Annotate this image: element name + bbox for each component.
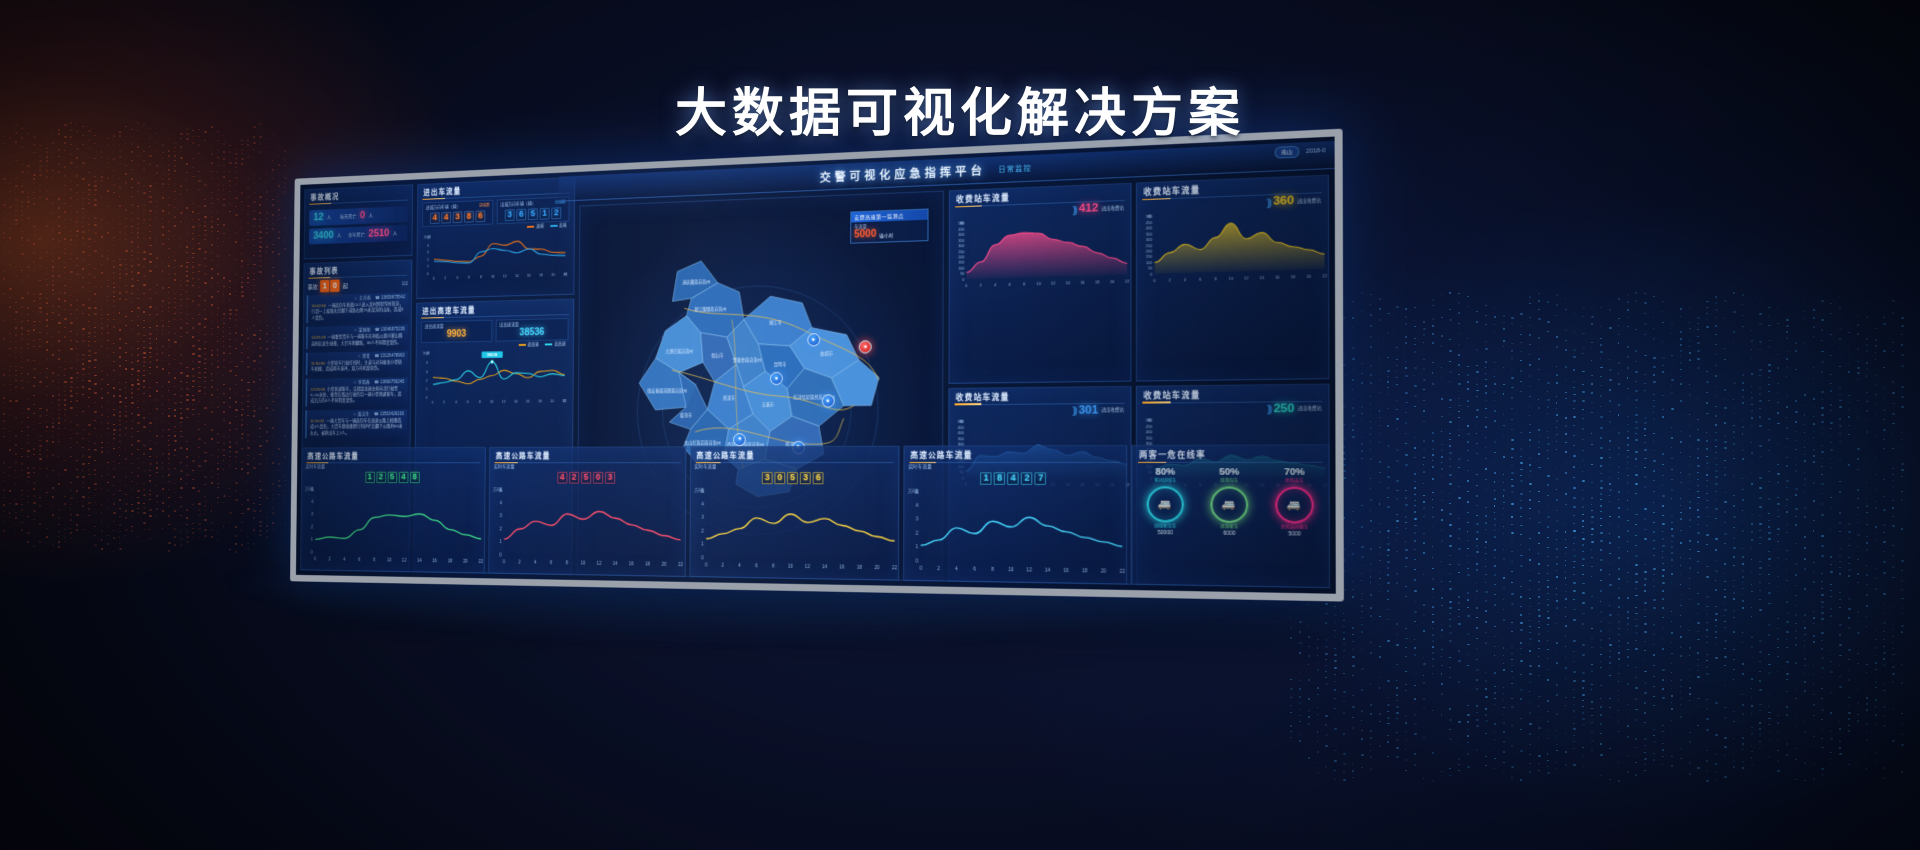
svg-text:20: 20	[1110, 279, 1114, 283]
svg-text:8: 8	[1214, 277, 1216, 281]
gauge-percent: 50%	[1210, 467, 1248, 477]
svg-text:350: 350	[1146, 232, 1153, 236]
accident-text: 14:25:23 一辆重型货车与一辆客车在祥临公路马鞍山隧道附近发生碰撞，大巴车…	[311, 333, 405, 347]
signal-wave-icon: )))	[1072, 405, 1075, 415]
gauge-sub: 旅游包车	[1210, 478, 1248, 485]
svg-text:450: 450	[1146, 424, 1153, 428]
digit-cell: 8	[464, 211, 474, 223]
svg-text:14: 14	[417, 558, 422, 563]
svg-text:1: 1	[500, 539, 503, 544]
highway-flow-card: 高速公路车流量 实时车流量 18427 万/辆 543210 024681012…	[903, 445, 1127, 585]
svg-text:14: 14	[514, 400, 518, 404]
list-item[interactable]: ☺ 王卉南☎ 13659675542 15:02:50 一辆面包车搭载15人进入…	[306, 293, 408, 324]
svg-text:14: 14	[1045, 567, 1051, 572]
svg-text:400: 400	[1146, 430, 1153, 434]
stat-value-2: 2510	[368, 228, 389, 239]
flow-box: 出高速流量 38536	[496, 318, 569, 342]
svg-text:22: 22	[1322, 274, 1327, 279]
svg-text:10: 10	[1008, 567, 1014, 572]
svg-text:0: 0	[915, 558, 918, 563]
svg-text:0: 0	[1150, 272, 1152, 276]
svg-text:2: 2	[443, 401, 445, 405]
svg-text:0: 0	[704, 562, 707, 567]
toll-station-title: 收费站车流量	[1137, 384, 1328, 403]
svg-text:1: 1	[426, 387, 428, 391]
reporter-name: ☺ 黄志生	[353, 411, 370, 417]
reporter-phone: ☎ 13553426193	[374, 411, 404, 417]
display-wall: 交警可视化应急指挥平台 日常监控 南山 2018-0 事故概况 12 人	[238, 155, 1313, 590]
svg-text:12: 12	[1051, 281, 1055, 285]
svg-text:350: 350	[1146, 436, 1153, 440]
svg-text:8: 8	[479, 400, 481, 404]
svg-text:22: 22	[479, 559, 484, 564]
svg-text:12: 12	[1244, 276, 1249, 280]
svg-text:22: 22	[891, 565, 897, 570]
signal-wave-icon: )))	[1072, 204, 1075, 215]
toll-station-value: 250	[1274, 403, 1295, 415]
highway-chart-svg[interactable]: 万/辆 543210 0246810121416182022	[301, 485, 485, 566]
reporter-phone: ☎ 13659675542	[375, 295, 405, 301]
svg-text:4: 4	[701, 502, 704, 507]
digit-cell: 4	[399, 472, 409, 483]
map-pin[interactable]: ●	[821, 394, 834, 407]
svg-text:12: 12	[1026, 567, 1032, 572]
svg-text:6: 6	[755, 563, 758, 568]
digit-cell: 8	[410, 472, 420, 483]
highway-flow-title: 高速公路车流量	[904, 446, 1126, 463]
svg-text:18: 18	[646, 561, 651, 566]
svg-text:18: 18	[448, 558, 453, 563]
map-region-label: 临沧市	[680, 412, 692, 419]
list-item[interactable]: ☺ 郑青☎ 13126478963 11:50:50 小型轿车行驶打挡时，主道与…	[306, 351, 408, 375]
svg-text:4: 4	[955, 566, 958, 571]
svg-text:1: 1	[701, 542, 704, 547]
svg-text:400: 400	[1146, 226, 1153, 230]
reporter-phone: ☎ 13690756245	[374, 379, 404, 385]
svg-text:12: 12	[597, 560, 602, 565]
dashboard-screen: 交警可视化应急指挥平台 日常监控 南山 2018-0 事故概况 12 人	[290, 129, 1344, 602]
svg-text:450: 450	[1146, 221, 1153, 226]
svg-text:2: 2	[916, 530, 919, 535]
highway-flow-card: 高速公路车流量 实时车流量 12548 万/辆 543210 024681012…	[300, 447, 486, 574]
chart-svg: 万/辆5432100246810121416182022时	[422, 228, 570, 282]
svg-text:450: 450	[958, 227, 964, 231]
digit-cell: 5	[528, 208, 538, 220]
region-badge[interactable]: 南山	[1274, 146, 1299, 159]
accident-reporter: ☺ 黄志生☎ 13553426193	[310, 411, 404, 417]
digit-strip: 36512	[500, 207, 566, 221]
vehicle-icon: 🚐	[1287, 499, 1301, 511]
svg-text:0: 0	[962, 277, 964, 281]
svg-text:4: 4	[343, 557, 346, 562]
svg-text:500: 500	[1146, 418, 1153, 422]
svg-text:4: 4	[426, 361, 428, 365]
svg-text:2: 2	[1169, 278, 1171, 282]
digit-cell: 8	[994, 472, 1005, 484]
svg-text:18: 18	[538, 400, 542, 404]
digit-strip: 18427	[904, 472, 1126, 485]
svg-text:14: 14	[1260, 275, 1265, 279]
digit-cell: 6	[516, 209, 526, 221]
gauge[interactable]: 50% 旅游包车 🚐 旅游客车 6000	[1210, 467, 1248, 537]
digit-cell: 0	[593, 472, 603, 484]
map-tooltip-value: 5000	[854, 230, 876, 241]
list-item[interactable]: ☺ 梁丽丽☎ 13046875236 14:25:23 一辆重型货车与一辆客车在…	[306, 325, 408, 349]
svg-text:2: 2	[444, 277, 446, 281]
gauge-sub: 危险品车	[1275, 478, 1314, 485]
online-rate-title: 两客一危在线率	[1133, 445, 1329, 462]
dashboard-root: 交警可视化应急指挥平台 日常监控 南山 2018-0 事故概况 12 人	[296, 137, 1336, 594]
platform-subtitle[interactable]: 日常监控	[998, 163, 1031, 175]
digit-cell: 3	[605, 472, 615, 484]
digit-cell: 3	[453, 211, 463, 223]
svg-text:16: 16	[527, 274, 531, 278]
stat-unit: 人	[337, 232, 341, 239]
inout-flow-card: 进出车流量 进城方向车辆（辆）进城数 44386 出城方向车辆（辆）出城数 36…	[416, 177, 575, 299]
svg-text:8: 8	[373, 557, 376, 562]
toll-station-label: 进出收费站	[1102, 205, 1124, 212]
toll-station-value: 301	[1079, 405, 1099, 417]
svg-text:18: 18	[856, 564, 862, 569]
inout-flow-body: 进城方向车辆（辆）进城数 44386 出城方向车辆（辆）出城数 36512 进城	[417, 193, 574, 286]
svg-text:18: 18	[1291, 274, 1296, 278]
legend-label: 出城	[559, 222, 567, 227]
digit-cell: 4	[1008, 472, 1020, 484]
svg-text:5: 5	[311, 487, 314, 492]
svg-text:4: 4	[994, 283, 996, 287]
highway-flow-boxes: 进高速流量 9903 出高速流量 38536	[421, 318, 569, 343]
svg-text:20: 20	[550, 400, 554, 404]
svg-text:14: 14	[613, 561, 618, 566]
svg-text:18: 18	[1082, 568, 1088, 573]
highway-chart-svg[interactable]: 万/辆 543210 0246810121416182022	[489, 485, 684, 568]
toll-station-value: 360	[1273, 195, 1294, 208]
svg-text:0: 0	[311, 549, 314, 554]
svg-text:4: 4	[455, 401, 457, 405]
stat-unit-2: 人	[393, 230, 397, 237]
accident-overview-body: 12 人 当天死亡 0 人 3400 人 全年死亡 2510	[305, 200, 412, 251]
digit-cell: 2	[569, 472, 579, 484]
signal-wave-icon: )))	[1266, 197, 1269, 208]
gauge-value: 50000	[1147, 530, 1184, 537]
accident-count-digits: 10	[320, 280, 340, 293]
svg-text:300: 300	[1146, 238, 1153, 242]
svg-text:50: 50	[1148, 266, 1152, 270]
reporter-phone: ☎ 13126478963	[374, 353, 404, 359]
legend-label: 进城	[536, 223, 544, 228]
chart-svg: 万/辆5432100246810121416182022时38536	[420, 347, 568, 406]
stat-row: 3400 人 全年死亡 2510 人	[309, 225, 408, 245]
svg-text:6: 6	[468, 276, 470, 280]
svg-text:4: 4	[916, 503, 919, 508]
gauge[interactable]: 80% 客运班线车 🚐 班线客车总 50000	[1147, 467, 1184, 536]
svg-text:2: 2	[500, 526, 503, 531]
highway-flow-title: 高速公路车流量	[302, 448, 485, 463]
svg-text:20: 20	[1100, 568, 1106, 573]
svg-text:3: 3	[427, 251, 429, 255]
digit-strip: 30536	[690, 472, 898, 484]
header-date: 2018-0	[1306, 147, 1325, 154]
gauge-value: 6000	[1210, 530, 1248, 537]
toll-station-card: 收费站车流量 ))) 412 进出收费站 辆 50045040035030025…	[948, 183, 1131, 384]
accident-time: 11:50:50	[311, 361, 325, 366]
svg-text:50: 50	[960, 272, 964, 276]
gauge-value: 5000	[1275, 531, 1314, 538]
svg-text:10: 10	[787, 563, 792, 568]
online-rate-card: 两客一危在线率 80% 客运班线车 🚐 班线客车总 50000 50% 旅游包车…	[1131, 444, 1330, 588]
digit-cell: 1	[980, 472, 991, 484]
svg-text:8: 8	[480, 275, 482, 279]
svg-text:20: 20	[662, 561, 667, 566]
svg-text:10: 10	[1036, 281, 1040, 285]
svg-text:10: 10	[581, 560, 586, 565]
svg-text:1: 1	[311, 537, 314, 542]
svg-text:6: 6	[550, 560, 553, 565]
digit-strip: 42503	[490, 472, 685, 484]
svg-text:2: 2	[329, 556, 332, 561]
svg-text:20: 20	[551, 273, 555, 277]
digit-strip: 12548	[302, 472, 485, 484]
vehicle-icon: 🚐	[1158, 499, 1172, 511]
toll-station-card: 收费站车流量 ))) 360 进出收费站 辆 50045040035030025…	[1136, 175, 1330, 381]
svg-text:12: 12	[502, 400, 506, 404]
toll-station-title: 收费站车流量	[949, 386, 1130, 405]
digit-cell: 5	[787, 472, 798, 484]
accident-time: 12:25:50	[311, 387, 325, 392]
svg-text:22: 22	[1125, 279, 1129, 283]
svg-text:20: 20	[463, 558, 468, 563]
svg-text:150: 150	[1146, 255, 1153, 259]
legend-label: 出高速	[554, 341, 565, 346]
stat-value: 12	[313, 212, 323, 223]
digit-cell: 4	[441, 212, 451, 224]
svg-text:3: 3	[701, 515, 704, 520]
digit-cell: 0	[775, 472, 786, 484]
digit-cell: 2	[1021, 472, 1033, 484]
svg-text:2: 2	[519, 559, 522, 564]
toll-station-label: 进出收费站	[1101, 407, 1124, 414]
list-item[interactable]: ☺ 李晓春☎ 13690756245 12:25:50 小型普通客车，沿德昆高速…	[305, 377, 407, 406]
svg-text:450: 450	[958, 425, 964, 429]
accident-text: 11:50:50 小型轿车行驶打挡时，主道与对向驶来小型轿车相撞，造成两车损坏，…	[311, 359, 405, 372]
highway-in-flow-chart[interactable]: 万/辆5432100246810121416182022时38536	[420, 347, 568, 406]
realtime-label: 实时车流量	[904, 463, 1126, 470]
svg-text:0: 0	[701, 555, 704, 560]
svg-text:350: 350	[958, 436, 964, 440]
accident-time: 15:02:50	[312, 303, 326, 308]
accident-count-label: 事故	[308, 282, 318, 291]
digit-cell: 1	[540, 208, 550, 220]
gauge-ring: 🚐	[1275, 487, 1314, 524]
gauge-sub: 客运班线车	[1147, 478, 1184, 484]
svg-text:22: 22	[1119, 568, 1125, 573]
svg-text:5: 5	[427, 236, 429, 240]
svg-text:6: 6	[1199, 277, 1201, 281]
svg-text:14: 14	[822, 564, 828, 569]
svg-text:4: 4	[738, 563, 741, 568]
svg-text:8: 8	[772, 563, 775, 568]
toll-chart-svg[interactable]: 辆 500450400350300250200150100500 0246810…	[1137, 206, 1328, 284]
svg-text:16: 16	[1275, 275, 1280, 279]
gauge[interactable]: 70% 危险品车 🚐 危险品运输车 5000	[1275, 467, 1314, 538]
toll-chart-svg[interactable]: 辆 500450400350300250200150100500 0246810…	[950, 213, 1131, 289]
realtime-label: 实时车流量	[691, 463, 899, 470]
svg-text:3: 3	[916, 517, 919, 522]
legend-label: 进高速	[528, 342, 539, 347]
gauge-percent: 80%	[1147, 467, 1184, 477]
svg-text:0: 0	[500, 552, 503, 557]
map-tooltip: 安楚高速第一监测点 车流量 5000 辆/小时	[850, 208, 928, 243]
signal-wave-icon: )))	[1267, 404, 1270, 415]
flow-box: 进城方向车辆（辆）进城数 44386	[422, 200, 493, 227]
svg-text:300: 300	[958, 244, 964, 248]
svg-text:250: 250	[958, 250, 964, 254]
flow-box-label: 出高速流量	[499, 322, 519, 328]
dot-mesh-right	[1290, 300, 1910, 780]
svg-text:2: 2	[427, 258, 429, 262]
toll-station-label: 进出收费站	[1297, 197, 1321, 204]
accident-count-unit: 起	[343, 281, 348, 290]
svg-text:5: 5	[916, 489, 919, 494]
svg-text:0: 0	[433, 277, 435, 281]
svg-text:0: 0	[965, 283, 967, 287]
svg-text:1: 1	[427, 265, 429, 269]
stat-label: 当天死亡	[340, 213, 357, 220]
header-right: 南山 2018-0	[1274, 145, 1325, 159]
svg-text:500: 500	[958, 420, 964, 424]
svg-text:10: 10	[490, 400, 494, 404]
svg-text:5: 5	[500, 488, 503, 493]
svg-text:2: 2	[980, 283, 982, 287]
highway-flow-title: 高速公路车流量	[691, 447, 899, 463]
list-item[interactable]: ☺ 黄志生☎ 13553426193 11:10:21 一辆大货车与一辆面包车在…	[305, 409, 407, 438]
svg-text:6: 6	[973, 566, 976, 571]
digit-cell: 3	[762, 472, 773, 484]
svg-text:14: 14	[515, 274, 519, 278]
digit-cell: 7	[1035, 472, 1047, 484]
toll-station-label: 进出收费站	[1298, 405, 1322, 412]
flow-box: 进高速流量 9903	[421, 320, 492, 343]
svg-text:0: 0	[314, 556, 317, 561]
reporter-name: ☺ 王卉南	[354, 295, 371, 301]
stat-label: 全年死亡	[348, 231, 365, 238]
reporter-phone: ☎ 13046875236	[375, 327, 405, 333]
accident-list-pager[interactable]: 1/2	[402, 281, 408, 287]
svg-text:4: 4	[1184, 277, 1186, 281]
svg-text:20: 20	[1307, 274, 1312, 278]
svg-text:12: 12	[402, 558, 407, 563]
bottom-row: 高速公路车流量 实时车流量 12548 万/辆 543210 024681012…	[300, 444, 1330, 588]
svg-text:18: 18	[1095, 280, 1099, 284]
svg-text:2: 2	[701, 528, 704, 533]
reporter-name: ☺ 郑青	[357, 353, 370, 359]
svg-text:250: 250	[1146, 244, 1153, 248]
highway-chart-svg[interactable]: 万/辆 543210 0246810121416182022	[904, 486, 1126, 575]
svg-text:4: 4	[534, 560, 537, 565]
toll-station-value: 412	[1079, 203, 1099, 215]
svg-text:0: 0	[426, 396, 428, 400]
svg-text:0: 0	[427, 272, 429, 276]
flow-value: 38536	[499, 327, 565, 339]
stat-row: 12 人 当天死亡 0 人	[309, 206, 408, 226]
digit-cell: 5	[581, 472, 591, 484]
svg-text:2: 2	[937, 566, 940, 571]
accident-time: 11:10:21	[310, 418, 324, 423]
svg-text:500: 500	[958, 222, 964, 226]
svg-text:8: 8	[991, 566, 994, 571]
svg-text:0: 0	[432, 401, 434, 405]
svg-text:400: 400	[958, 233, 964, 237]
svg-text:6: 6	[467, 401, 469, 405]
svg-text:0: 0	[503, 559, 506, 564]
svg-text:10: 10	[387, 557, 392, 562]
digit-cell: 2	[551, 207, 561, 219]
svg-text:时: 时	[563, 398, 567, 403]
count-digit: 1	[320, 280, 329, 292]
accident-text: 11:10:21 一辆大货车与一辆面包车在高速公路上相撞造成3人受伤，大货车继续…	[310, 418, 404, 437]
svg-text:8: 8	[566, 560, 569, 565]
svg-text:5: 5	[426, 353, 428, 357]
gauge-row: 80% 客运班线车 🚐 班线客车总 50000 50% 旅游包车 🚐 旅游客车 …	[1133, 463, 1329, 538]
svg-text:3: 3	[311, 512, 314, 517]
svg-text:200: 200	[1146, 249, 1153, 253]
highway-chart-svg[interactable]: 万/辆 543210 0246810121416182022	[690, 486, 898, 572]
svg-text:150: 150	[958, 261, 964, 265]
svg-text:22: 22	[678, 562, 683, 567]
svg-text:38536: 38536	[487, 352, 498, 357]
stat-unit-2: 人	[369, 212, 373, 219]
svg-text:4: 4	[500, 501, 503, 506]
flow-box-tag: 进城数	[479, 203, 490, 209]
flow-box-label: 出城方向车辆（辆）	[500, 201, 535, 208]
platform-title: 交警可视化应急指挥平台	[820, 162, 986, 186]
svg-text:16: 16	[839, 564, 845, 569]
count-digit: 0	[330, 280, 339, 292]
svg-text:12: 12	[804, 564, 809, 569]
svg-text:0: 0	[919, 565, 922, 570]
inout-flow-chart[interactable]: 万/辆5432100246810121416182022时	[422, 228, 570, 282]
map-tooltip-unit: 辆/小时	[879, 233, 893, 240]
svg-text:16: 16	[432, 558, 437, 563]
svg-text:时: 时	[564, 272, 568, 277]
vehicle-icon: 🚐	[1222, 499, 1236, 511]
digit-cell: 6	[475, 210, 485, 222]
svg-text:5: 5	[701, 488, 704, 493]
svg-text:350: 350	[958, 238, 964, 242]
svg-text:0: 0	[1154, 278, 1156, 282]
headline-text: 大数据可视化解决方案	[675, 88, 1245, 140]
svg-text:2: 2	[311, 524, 314, 529]
accident-overview-card: 事故概况 12 人 当天死亡 0 人 3400 人	[304, 184, 413, 259]
svg-text:12: 12	[503, 275, 507, 279]
svg-text:100: 100	[958, 266, 964, 270]
gauge-ring: 🚐	[1210, 486, 1248, 523]
reporter-name: ☺ 梁丽丽	[353, 327, 370, 333]
svg-text:16: 16	[1080, 280, 1084, 284]
svg-text:10: 10	[491, 275, 495, 279]
svg-text:100: 100	[1146, 261, 1153, 265]
accident-time: 14:25:23	[311, 335, 325, 340]
reporter-name: ☺ 李晓春	[353, 379, 370, 385]
svg-text:8: 8	[1023, 282, 1025, 286]
svg-text:10: 10	[1229, 276, 1234, 280]
svg-text:16: 16	[1063, 567, 1069, 572]
flow-box-label: 进城方向车辆（辆）	[426, 204, 461, 211]
digit-cell: 3	[505, 209, 515, 221]
highway-in-flow-body: 进高速流量 9903 出高速流量 38536 进高速 出高速	[416, 315, 573, 410]
svg-text:16: 16	[629, 561, 634, 566]
digit-cell: 6	[813, 472, 824, 484]
